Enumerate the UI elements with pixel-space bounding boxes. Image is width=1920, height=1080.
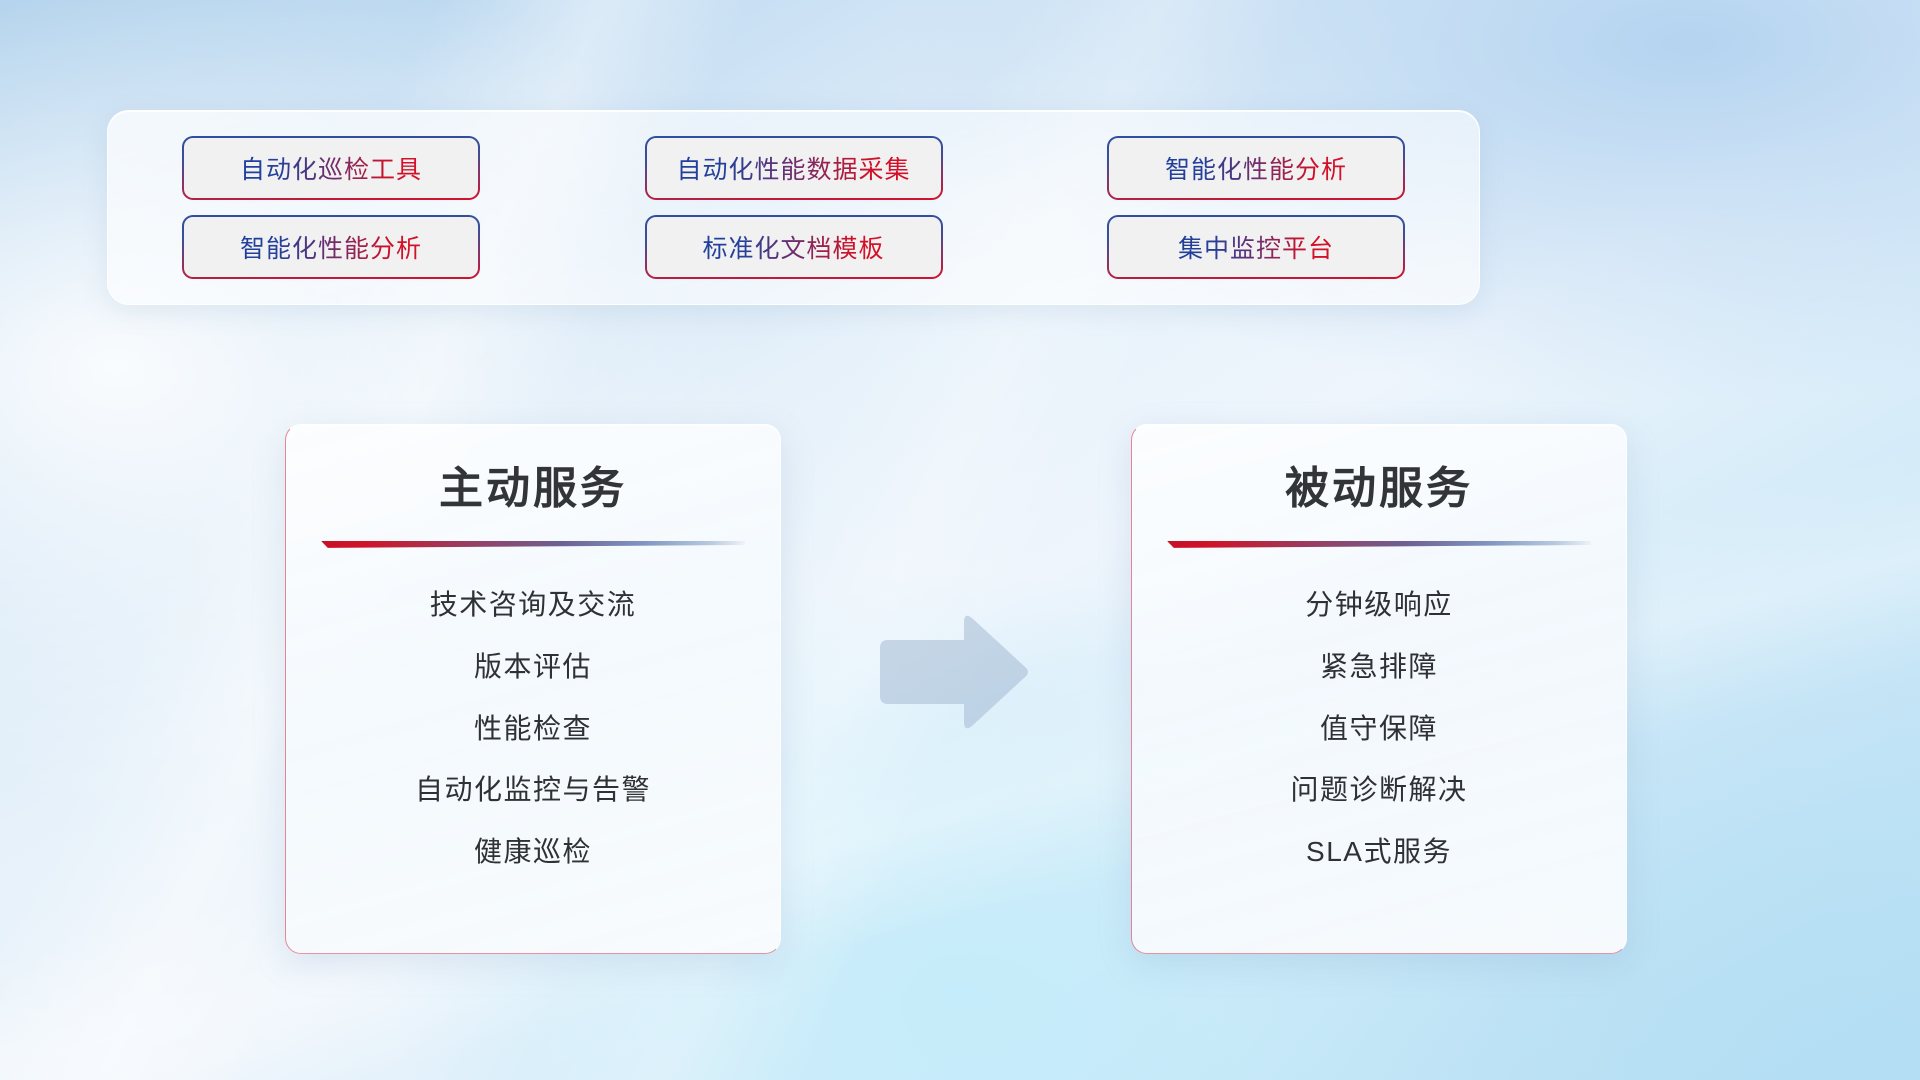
list-item: 版本评估: [474, 652, 592, 683]
capability-toolbar-panel: 自动化巡检工具 自动化性能数据采集 智能化性能分析 智能化性能分析 标准化文档模…: [107, 110, 1480, 305]
list-item: 紧急排障: [1320, 652, 1438, 683]
arrow-right-icon: [872, 610, 1032, 734]
capability-pill-label: 智能化性能分析: [240, 229, 422, 265]
card-title: 主动服务: [439, 463, 627, 515]
capability-pill-centralized-monitoring-platform[interactable]: 集中监控平台: [1109, 217, 1403, 277]
capability-pill-standard-doc-template[interactable]: 标准化文档模板: [647, 217, 941, 277]
service-item-list: 技术咨询及交流 版本评估 性能检查 自动化监控与告警 健康巡检: [328, 590, 738, 868]
card-title: 被动服务: [1285, 463, 1473, 515]
capability-pill-label: 智能化性能分析: [1165, 150, 1347, 186]
capability-pill-label: 自动化巡检工具: [240, 150, 422, 186]
service-card-reactive: 被动服务 分钟级响应 紧急排障 值守保障 问题诊断解决 SLA式服务: [1131, 424, 1627, 954]
capability-pill-automated-inspection-tool[interactable]: 自动化巡检工具: [184, 138, 478, 198]
capability-pill-intelligent-perf-analysis-bottom[interactable]: 智能化性能分析: [184, 217, 478, 277]
list-item: SLA式服务: [1306, 837, 1452, 868]
list-item: 自动化监控与告警: [415, 775, 651, 806]
list-item: 性能检查: [474, 714, 592, 745]
capability-pill-row-2: 智能化性能分析 标准化文档模板 集中监控平台: [184, 217, 1403, 277]
capability-pill-row-1: 自动化巡检工具 自动化性能数据采集 智能化性能分析: [184, 138, 1403, 198]
capability-pill-label: 集中监控平台: [1178, 229, 1334, 265]
list-item: 问题诊断解决: [1290, 775, 1467, 806]
capability-pill-label: 标准化文档模板: [702, 229, 884, 265]
service-card-proactive: 主动服务 技术咨询及交流 版本评估 性能检查 自动化监控与告警 健康巡检: [285, 424, 781, 954]
service-item-list: 分钟级响应 紧急排障 值守保障 问题诊断解决 SLA式服务: [1174, 590, 1584, 868]
list-item: 分钟级响应: [1305, 590, 1453, 621]
card-divider-gradient: [1167, 541, 1591, 548]
list-item: 值守保障: [1320, 714, 1438, 745]
capability-pill-intelligent-perf-analysis-top[interactable]: 智能化性能分析: [1109, 138, 1403, 198]
list-item: 技术咨询及交流: [430, 590, 637, 621]
card-divider-gradient: [321, 541, 745, 548]
capability-pill-automated-perf-data-collection[interactable]: 自动化性能数据采集: [647, 138, 941, 198]
capability-pill-label: 自动化性能数据采集: [676, 150, 910, 186]
list-item: 健康巡检: [474, 837, 592, 868]
